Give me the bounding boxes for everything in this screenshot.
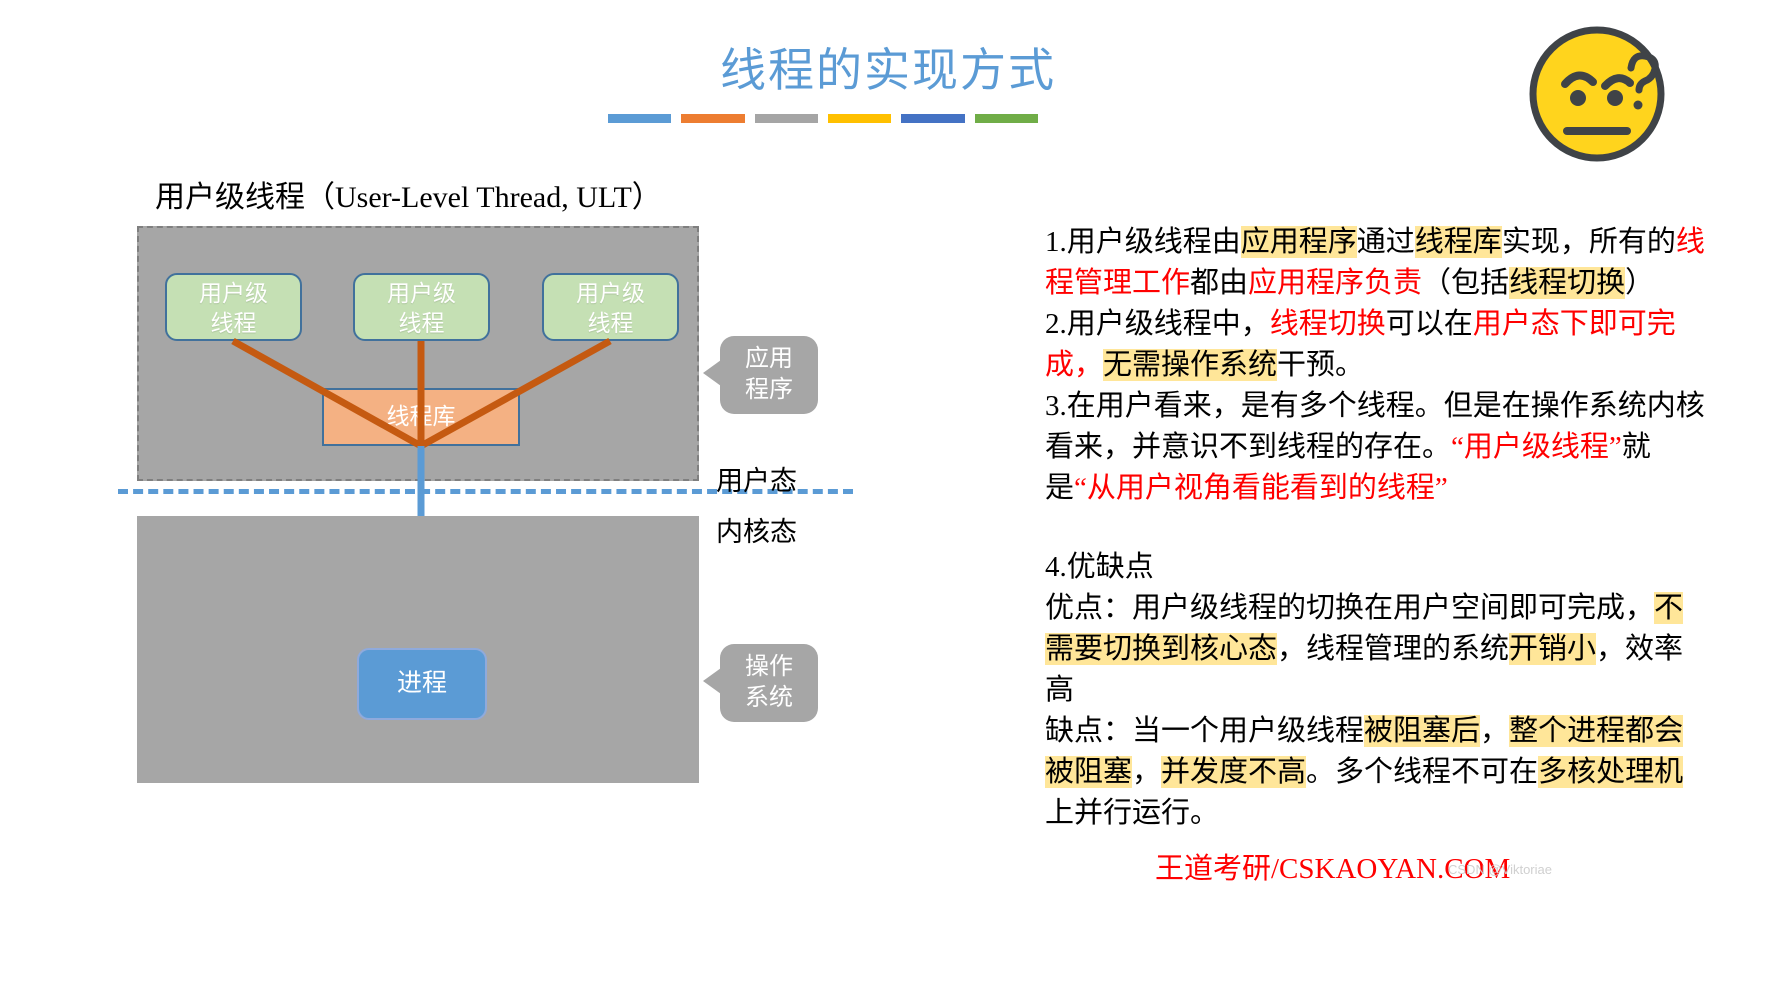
note-4-cons-seg5: 上并行运行。	[1045, 797, 1219, 829]
note-1-hl1: 应用程序	[1241, 226, 1357, 258]
note-3-red2: “从用户视角看能看到的线程”	[1074, 472, 1448, 504]
note-item-2: 2.用户级线程中，线程切换可以在用户态下即可完成，无需操作系统干预。	[1045, 304, 1705, 386]
callout-os-line2: 系统	[720, 683, 818, 714]
ult-box-2-line1: 用户级	[355, 279, 488, 309]
watermark-text: CSDN @Viktoriae	[1448, 862, 1552, 877]
callout-app-line1: 应用	[720, 344, 818, 375]
ult-box-1-line1: 用户级	[167, 279, 300, 309]
note-2-seg1: 用户级线程中，	[1067, 308, 1270, 340]
ult-box-2-line2: 线程	[355, 309, 488, 339]
diagram-caption: 用户级线程（User-Level Thread, ULT）	[155, 172, 662, 216]
note-4-number: 4.	[1045, 551, 1067, 583]
note-4-cons-seg1: 当一个用户级线程	[1132, 715, 1364, 747]
accent-bar-5	[901, 114, 964, 123]
ult-box-3-line2: 线程	[544, 309, 677, 339]
accent-bar-6	[975, 114, 1038, 123]
note-4-pros-label: 优点：	[1045, 592, 1132, 624]
accent-bar-1	[608, 114, 671, 123]
callout-application-program: 应用 程序	[720, 336, 818, 414]
title-accent-bars	[608, 114, 1038, 123]
thread-library-box: 线程库	[322, 388, 520, 446]
note-4-cons-seg2: ，	[1480, 715, 1509, 747]
user-level-thread-box-3: 用户级 线程	[542, 273, 679, 341]
note-item-4-pros: 优点：用户级线程的切换在用户空间即可完成，不需要切换到核心态，线程管理的系统开销…	[1045, 588, 1705, 711]
note-1-seg5: （包括	[1422, 267, 1509, 299]
note-1-hl3: 线程切换	[1509, 267, 1625, 299]
note-3-red1: “用户级线程”	[1451, 431, 1622, 463]
note-1-seg4: 都由	[1190, 267, 1248, 299]
note-4-cons-seg3: ，	[1132, 756, 1161, 788]
note-1-seg3: 实现，所有的	[1502, 226, 1676, 258]
process-box: 进程	[357, 648, 487, 720]
note-1-number: 1.	[1045, 226, 1067, 258]
note-1-seg6: ）	[1625, 267, 1654, 299]
note-2-hl1: 无需操作系统	[1103, 349, 1277, 381]
slide-canvas: 线程的实现方式 用户级线程（User-Level Thread, ULT） 用户…	[0, 0, 1776, 992]
ult-box-1-line2: 线程	[167, 309, 300, 339]
ult-box-3-line1: 用户级	[544, 279, 677, 309]
note-2-number: 2.	[1045, 308, 1067, 340]
note-item-3: 3.在用户看来，是有多个线程。但是在操作系统内核看来，并意识不到线程的存在。“用…	[1045, 386, 1705, 509]
callout-operating-system: 操作 系统	[720, 644, 818, 722]
note-4-cons-hl1: 被阻塞后	[1364, 715, 1480, 747]
confused-face-icon	[1525, 16, 1675, 166]
notes-panel: 1.用户级线程由应用程序通过线程库实现，所有的线程管理工作都由应用程序负责（包括…	[1045, 222, 1705, 834]
user-level-thread-box-2: 用户级 线程	[353, 273, 490, 341]
note-2-seg2: 可以在	[1386, 308, 1473, 340]
note-1-seg1: 用户级线程由	[1067, 226, 1241, 258]
note-4-pros-seg1: 用户级线程的切换在用户空间即可完成，	[1132, 592, 1654, 624]
user-mode-label: 用户态	[716, 459, 797, 498]
callout-os-line1: 操作	[720, 652, 818, 683]
page-title: 线程的实现方式	[0, 34, 1776, 100]
note-2-seg3: ，	[1074, 349, 1103, 381]
note-1-seg2: 通过	[1357, 226, 1415, 258]
kernel-mode-label: 内核态	[716, 510, 797, 549]
note-2-seg4: 干预。	[1277, 349, 1364, 381]
note-item-1: 1.用户级线程由应用程序通过线程库实现，所有的线程管理工作都由应用程序负责（包括…	[1045, 222, 1705, 304]
note-1-red2: 应用程序负责	[1248, 267, 1422, 299]
note-4-heading-text: 优缺点	[1067, 551, 1154, 583]
notes-spacer	[1045, 509, 1705, 547]
note-item-4-cons: 缺点：当一个用户级线程被阻塞后，整个进程都会被阻塞，并发度不高。多个线程不可在多…	[1045, 711, 1705, 834]
accent-bar-2	[681, 114, 744, 123]
callout-app-line2: 程序	[720, 375, 818, 406]
note-4-pros-seg2: ，线程管理的系统	[1277, 633, 1509, 665]
user-level-thread-box-1: 用户级 线程	[165, 273, 302, 341]
note-3-number: 3.	[1045, 390, 1067, 422]
accent-bar-3	[755, 114, 818, 123]
accent-bar-4	[828, 114, 891, 123]
note-4-cons-hl3: 并发度不高	[1161, 756, 1306, 788]
note-4-cons-label: 缺点：	[1045, 715, 1132, 747]
note-4-pros-hl2: 开销小	[1509, 633, 1596, 665]
note-1-hl2: 线程库	[1415, 226, 1502, 258]
note-2-red1: 线程切换	[1270, 308, 1386, 340]
note-4-cons-hl4: 多核处理机	[1538, 756, 1683, 788]
note-4-cons-seg4: 。多个线程不可在	[1306, 756, 1538, 788]
note-item-4-heading: 4.优缺点	[1045, 547, 1705, 588]
